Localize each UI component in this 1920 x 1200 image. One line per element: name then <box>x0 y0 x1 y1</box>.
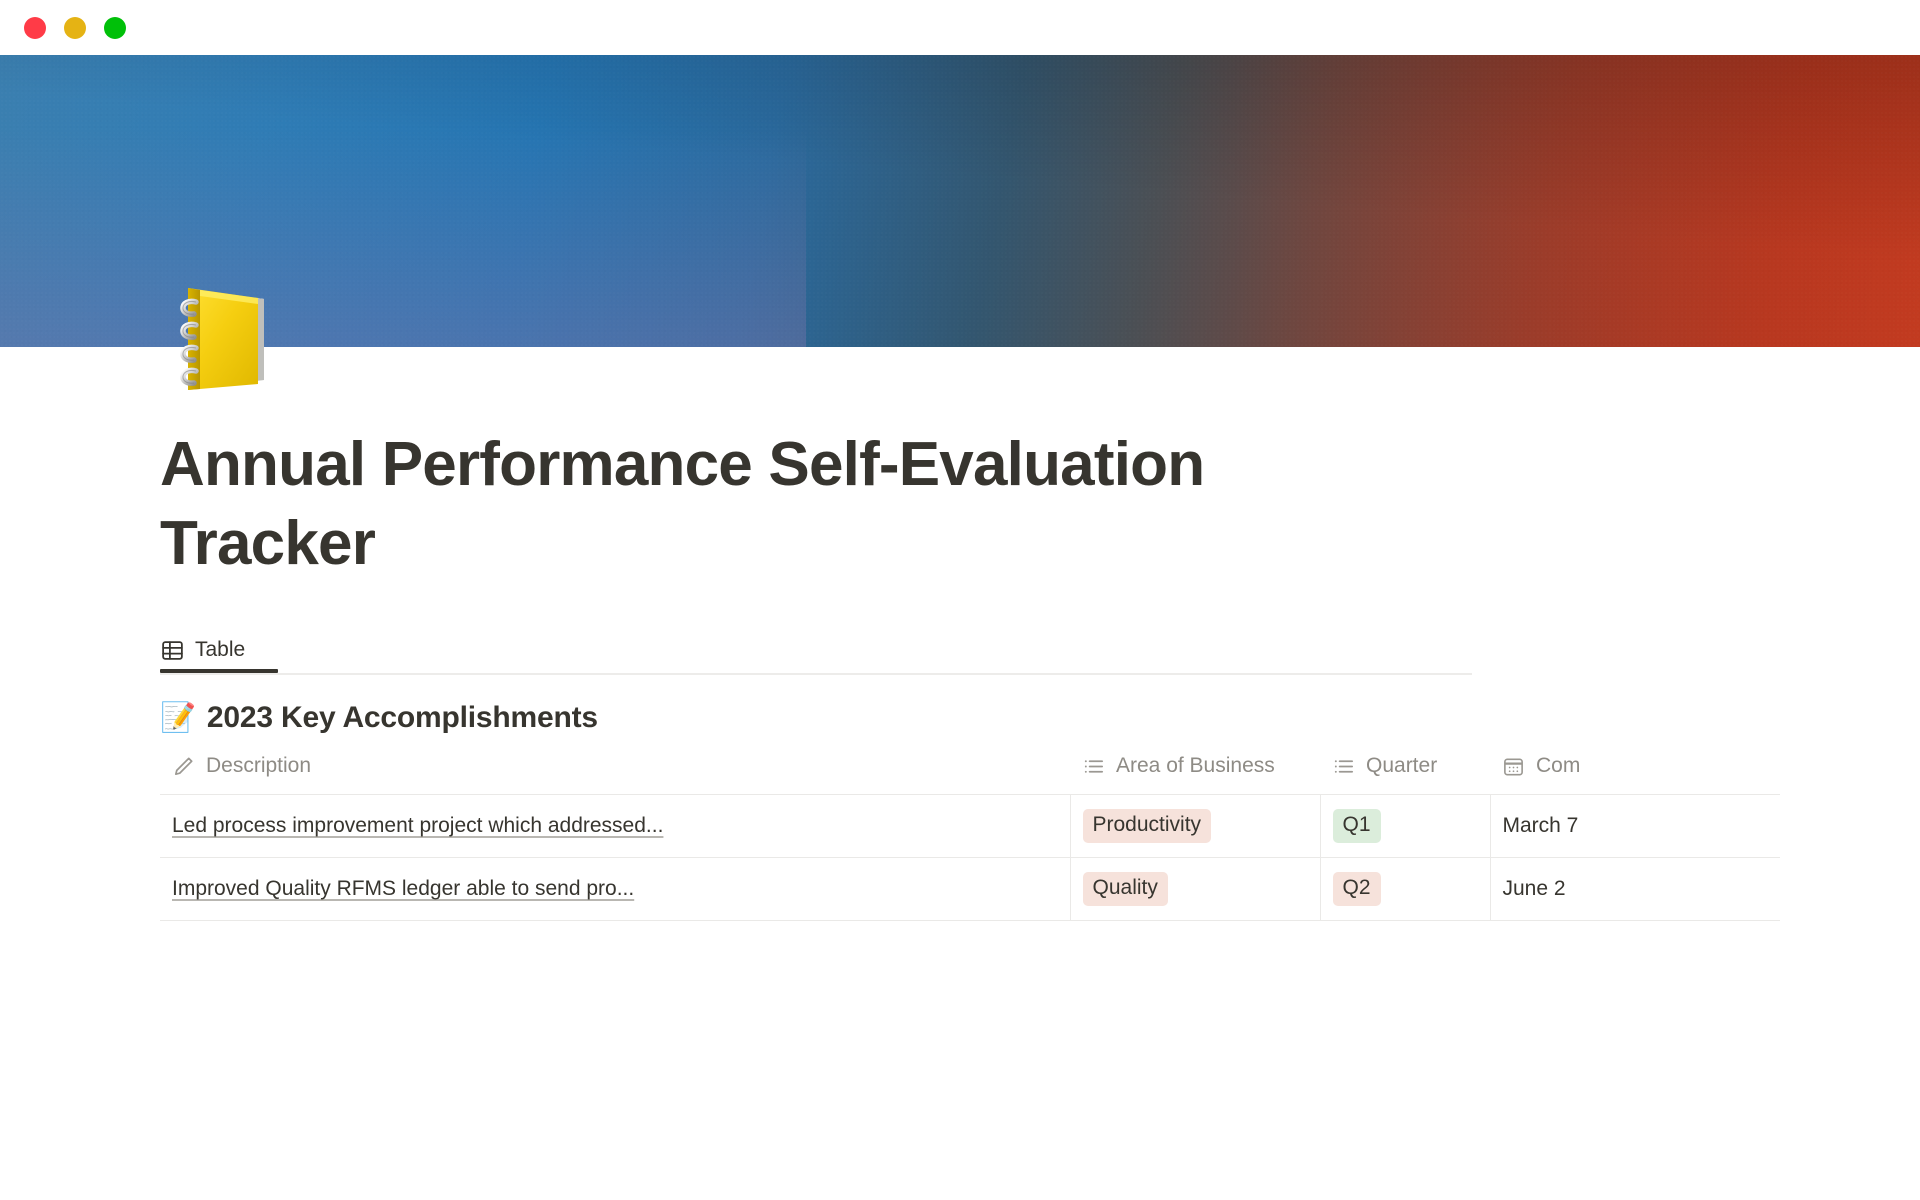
column-header-description-label: Description <box>206 754 311 778</box>
calendar-icon <box>1502 755 1525 778</box>
column-header-quarter-label: Quarter <box>1366 754 1437 778</box>
list-icon <box>1082 755 1105 778</box>
cell-area-of-business[interactable]: Productivity <box>1070 795 1320 858</box>
table-header-row: Description <box>160 754 1780 795</box>
column-header-area-of-business[interactable]: Area of Business <box>1070 754 1320 795</box>
database-view-tabs: Table <box>160 625 1728 673</box>
section-heading-label: 2023 Key Accomplishments <box>207 701 598 735</box>
table-row[interactable]: Led process improvement project which ad… <box>160 795 1780 858</box>
cell-description[interactable]: Led process improvement project which ad… <box>160 795 1070 858</box>
status-badge: Quality <box>1083 872 1168 906</box>
cell-description[interactable]: Improved Quality RFMS ledger able to sen… <box>160 858 1070 921</box>
page-content: Annual Performance Self-Evaluation Track… <box>0 347 1920 1200</box>
completion-date-value: June 2 <box>1503 877 1566 900</box>
cover-texture-overlay <box>0 55 1920 347</box>
memo-emoji: 📝 <box>160 704 196 733</box>
maximize-window-button[interactable] <box>104 17 126 39</box>
accomplishments-table: Description <box>160 754 1780 921</box>
completion-date-value: March 7 <box>1503 814 1579 837</box>
cell-quarter[interactable]: Q2 <box>1320 858 1490 921</box>
close-window-button[interactable] <box>24 17 46 39</box>
traffic-light-group <box>24 17 126 39</box>
table-grid-icon <box>160 638 185 663</box>
column-header-quarter[interactable]: Quarter <box>1320 754 1490 795</box>
cell-completion-date[interactable]: March 7 <box>1490 795 1780 858</box>
minimize-window-button[interactable] <box>64 17 86 39</box>
status-badge: Q1 <box>1333 809 1381 843</box>
table-row[interactable]: Improved Quality RFMS ledger able to sen… <box>160 858 1780 921</box>
cell-area-of-business[interactable]: Quality <box>1070 858 1320 921</box>
column-header-completion-date[interactable]: Com <box>1490 754 1780 795</box>
column-header-description[interactable]: Description <box>160 754 1070 795</box>
section-heading[interactable]: 📝 2023 Key Accomplishments <box>160 701 1728 735</box>
row-title-link[interactable]: Improved Quality RFMS ledger able to sen… <box>172 877 1058 901</box>
column-header-completion-date-label: Com <box>1536 754 1580 778</box>
active-tab-underline <box>160 669 278 673</box>
tab-table[interactable]: Table <box>160 627 254 673</box>
tab-table-label: Table <box>195 638 245 662</box>
window-titlebar <box>0 0 1920 55</box>
row-title-link[interactable]: Led process improvement project which ad… <box>172 814 1058 838</box>
cell-completion-date[interactable]: June 2 <box>1490 858 1780 921</box>
cell-quarter[interactable]: Q1 <box>1320 795 1490 858</box>
page-title[interactable]: Annual Performance Self-Evaluation Track… <box>160 425 1280 583</box>
pencil-icon <box>172 755 195 778</box>
column-header-area-of-business-label: Area of Business <box>1116 754 1275 778</box>
tabs-divider <box>160 673 1472 675</box>
page-cover-image[interactable] <box>0 55 1920 347</box>
status-badge: Q2 <box>1333 872 1381 906</box>
spiral-notebook-icon[interactable] <box>160 272 284 396</box>
list-icon <box>1332 755 1355 778</box>
status-badge: Productivity <box>1083 809 1212 843</box>
